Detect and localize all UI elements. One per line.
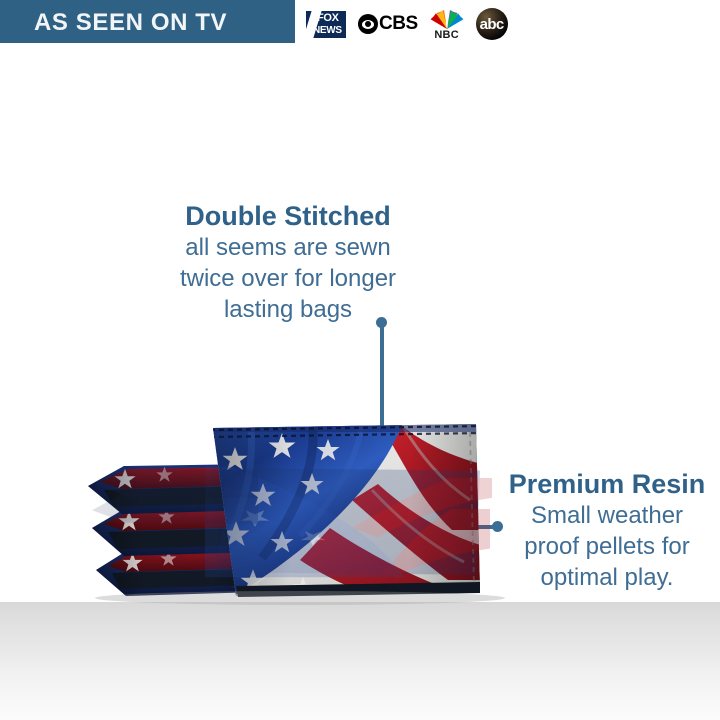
as-seen-on-tv-label: AS SEEN ON TV [34,9,227,37]
cbs-eye-icon [358,14,378,34]
product-photo [0,380,720,720]
abc-logo-label: abc [480,17,504,32]
callout-double-stitched: Double Stitched all seems are sewn twice… [148,200,428,325]
infographic-page: AS SEEN ON TV FOX NEWS CBS [0,0,720,720]
fox-news-logo: FOX NEWS [305,10,347,39]
cbs-logo: CBS [358,13,418,35]
callout-double-stitched-line-1: all seems are sewn [148,232,428,263]
callout-double-stitched-line-2: twice over for longer [148,263,428,294]
callout-double-stitched-title: Double Stitched [148,200,428,232]
nbc-logo: NBC [429,8,465,41]
fox-news-logo-line2: NEWS [313,25,342,37]
fox-news-logo-line1: FOX [317,12,339,24]
table-surface [0,602,720,720]
nbc-peacock-icon [430,8,464,30]
callout-double-stitched-body: all seems are sewn twice over for longer… [148,232,428,325]
network-logo-strip: FOX NEWS CBS NBC abc [305,4,508,44]
cbs-logo-label: CBS [379,13,418,35]
as-seen-on-tv-banner: AS SEEN ON TV [0,0,295,43]
abc-logo: abc [476,8,508,40]
nbc-logo-label: NBC [434,29,458,41]
product-reflection [0,459,720,602]
